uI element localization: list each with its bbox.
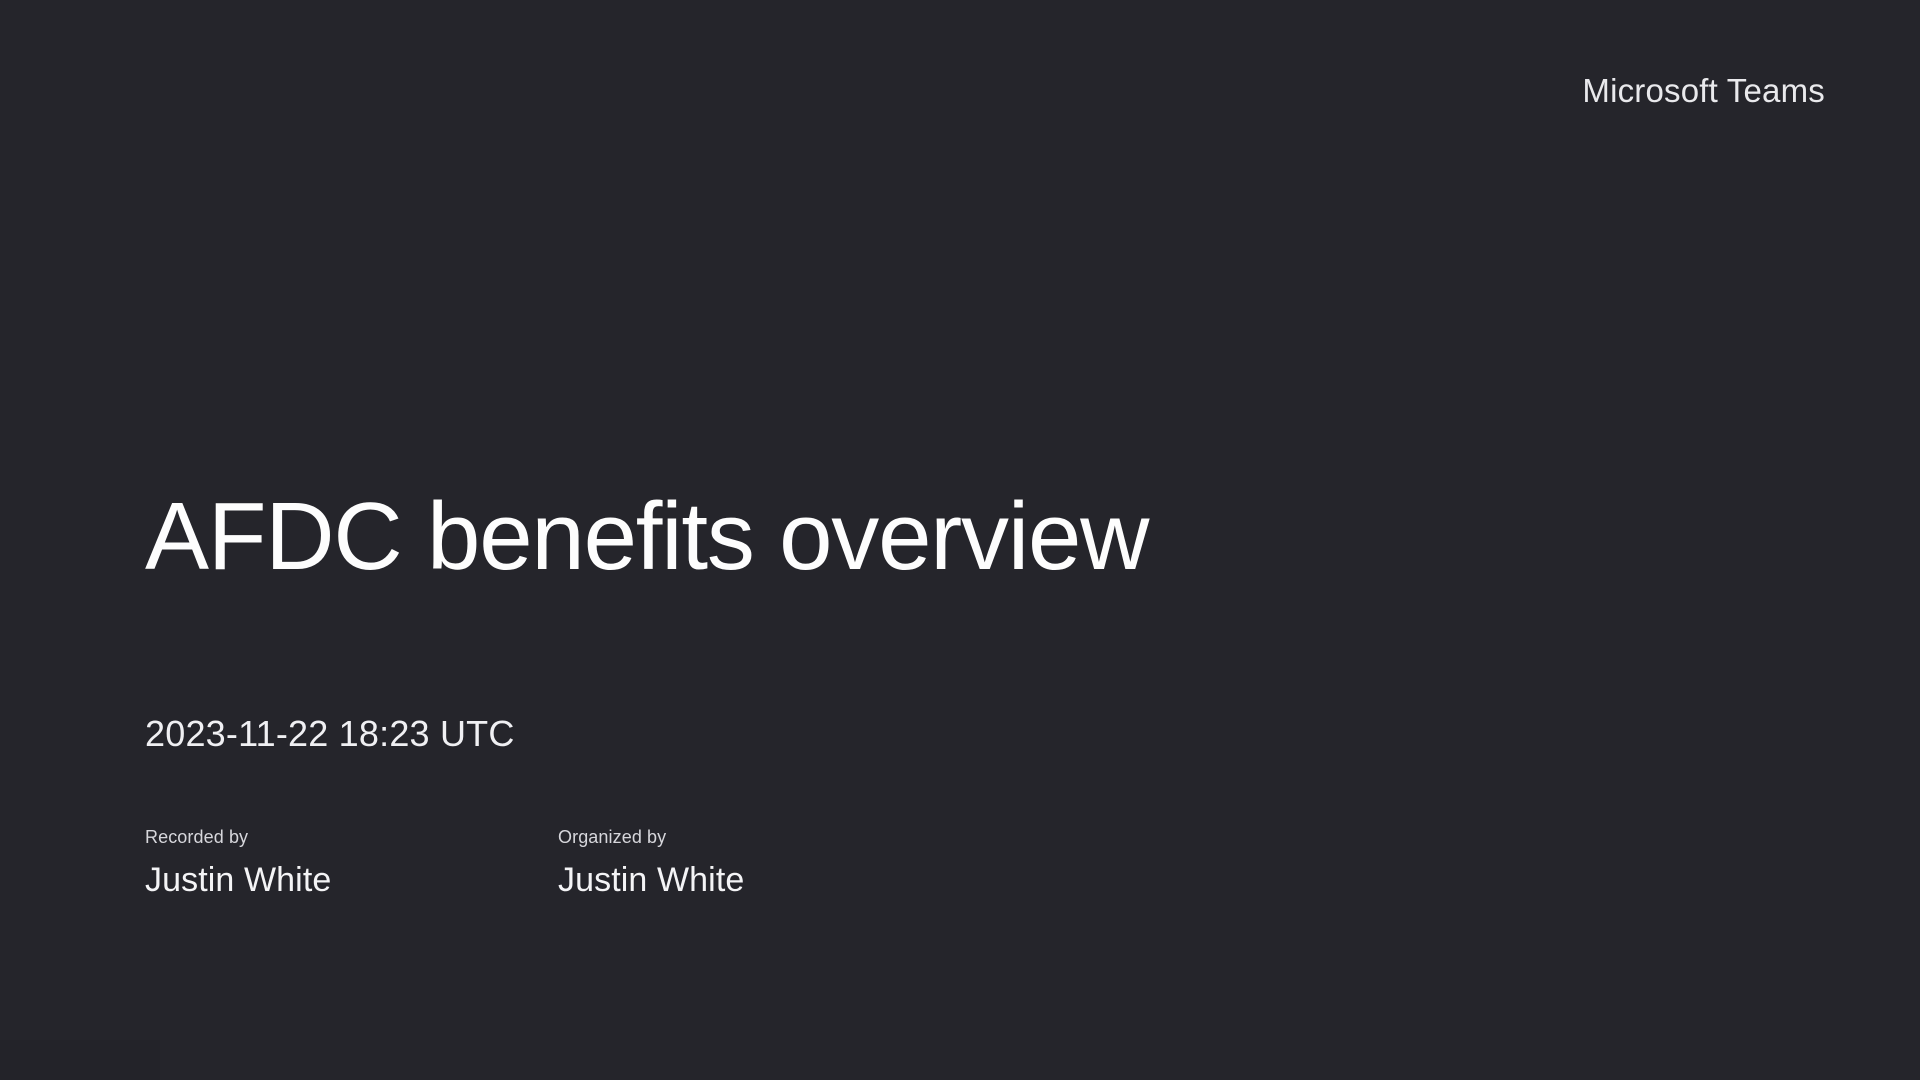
panel-edge-strip [0,1040,160,1080]
meeting-title: AFDC benefits overview [145,489,1148,585]
recorded-by-name: Justin White [145,863,331,897]
organized-by-name: Justin White [558,863,744,897]
recorded-by-label: Recorded by [145,828,331,846]
recording-title-card: Microsoft Teams AFDC benefits overview 2… [0,0,1920,1080]
organized-by-label: Organized by [558,828,744,846]
recorded-by-column: Recorded by Justin White [145,828,331,897]
title-card-content: AFDC benefits overview 2023-11-22 18:23 … [145,0,1845,1080]
meeting-timestamp: 2023-11-22 18:23 UTC [145,716,515,752]
organized-by-column: Organized by Justin White [558,828,744,897]
